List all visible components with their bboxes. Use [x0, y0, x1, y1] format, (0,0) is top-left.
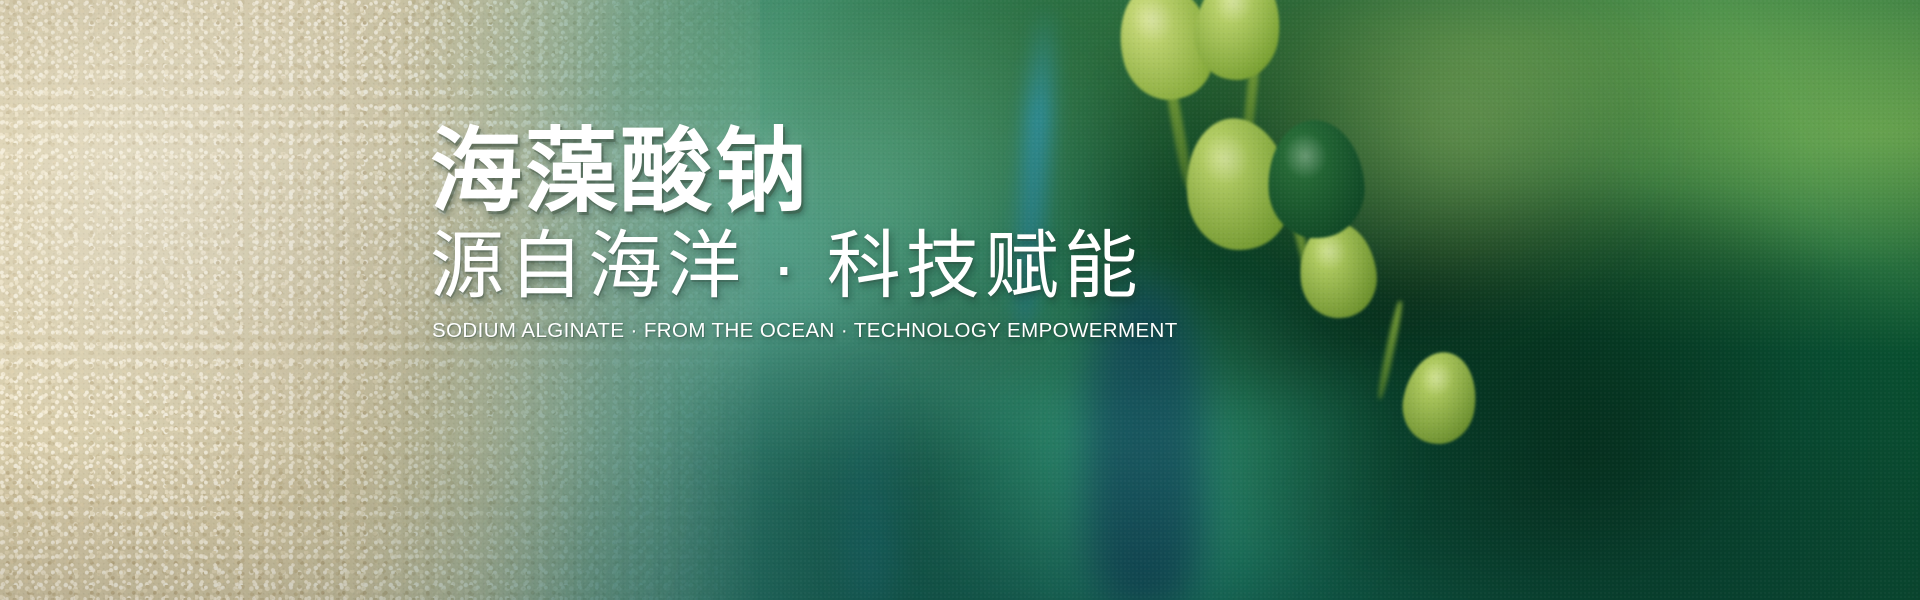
headline-block: 海藻酸钠 源自海洋 · 科技赋能 SODIUM ALGINATE · FROM …: [430, 126, 1190, 342]
hero-banner: 海藻酸钠 源自海洋 · 科技赋能 SODIUM ALGINATE · FROM …: [0, 0, 1920, 600]
page-tagline: SODIUM ALGINATE · FROM THE OCEAN · TECHN…: [432, 320, 1190, 343]
page-title: 海藻酸钠: [430, 126, 1190, 220]
page-subtitle: 源自海洋 · 科技赋能: [430, 226, 1190, 306]
